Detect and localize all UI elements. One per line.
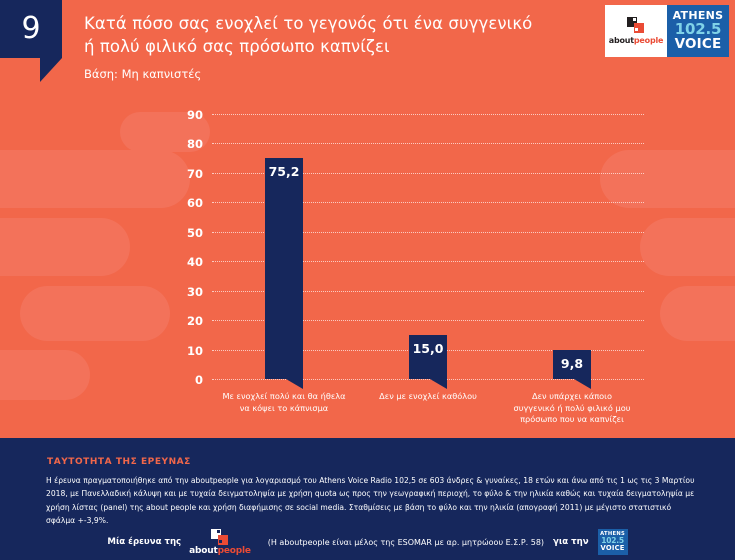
page-subtitle: Βάση: Μη καπνιστές xyxy=(84,66,584,82)
aboutpeople-word-about: about xyxy=(189,546,217,556)
aboutpeople-squares-icon xyxy=(627,17,645,33)
chart-bar[interactable]: 75,2 xyxy=(265,158,303,379)
athens-voice-line-voice: VOICE xyxy=(675,38,722,52)
x-axis-category-label: Δεν υπάρχει κάποιοσυγγενικό ή πολύ φιλικ… xyxy=(500,391,644,426)
slide-number-badge-tail xyxy=(40,58,62,82)
y-axis-tick-label: 70 xyxy=(187,167,203,181)
methodology-footer: ΤΑΥΤΟΤΗΤΑ ΤΗΣ ΕΡΕΥΝΑΣ Η έρευνα πραγματοπ… xyxy=(0,438,735,560)
slide-number-badge: 9 xyxy=(0,0,62,58)
chart-bar[interactable]: 15,0 xyxy=(409,335,447,379)
bar-group: 75,2Με ενοχλεί πολύ και θα ήθελανα κόψει… xyxy=(265,158,303,379)
athens-voice-logo: ATHENS 102.5 VOICE xyxy=(667,5,729,57)
credits-bar: Μία έρευνα της aboutpeople (Η aboutpeopl… xyxy=(0,524,735,560)
slide-header: 9 Κατά πόσο σας ενοχλεί το γεγονός ότι έ… xyxy=(0,0,735,100)
page-title-line-1: Κατά πόσο σας ενοχλεί το γεγονός ότι ένα… xyxy=(84,12,584,35)
aboutpeople-word-people: people xyxy=(634,36,663,45)
aboutpeople-word-about: about xyxy=(609,36,634,45)
x-axis-category-line: να κόψει το κάπνισμα xyxy=(212,403,356,415)
methodology-title: ΤΑΥΤΟΤΗΤΑ ΤΗΣ ΕΡΕΥΝΑΣ xyxy=(47,457,191,467)
aboutpeople-wordmark: aboutpeople xyxy=(609,36,664,45)
aboutpeople-logo: aboutpeople xyxy=(605,5,667,57)
aboutpeople-squares-icon xyxy=(211,529,229,545)
y-axis-tick-label: 40 xyxy=(187,255,203,269)
y-axis-tick-label: 10 xyxy=(187,344,203,358)
bar-chart-plot: 010203040506070809075,2Με ενοχλεί πολύ κ… xyxy=(212,114,644,379)
y-axis-tick-label: 0 xyxy=(195,373,203,387)
page-title-line-2: ή πολύ φιλικό σας πρόσωπο καπνίζει xyxy=(84,35,584,58)
y-axis-tick-label: 80 xyxy=(187,137,203,151)
athens-voice-line-frequency: 102.5 xyxy=(675,22,721,37)
x-axis-category-line: συγγενικό ή πολύ φιλικό μου xyxy=(500,403,644,415)
bar-value-label: 75,2 xyxy=(265,164,303,179)
methodology-body: Η έρευνα πραγματοποιήθηκε από την aboutp… xyxy=(46,474,696,527)
chart-bar[interactable]: 9,8 xyxy=(553,350,591,379)
x-axis-category-label: Δεν με ενοχλεί καθόλου xyxy=(356,391,500,403)
chart-bar-tail xyxy=(430,379,447,389)
bar-value-label: 9,8 xyxy=(553,356,591,371)
x-axis-category-line: Δεν υπάρχει κάποιο xyxy=(500,391,644,403)
chart-bar-tail xyxy=(574,379,591,389)
credits-aboutpeople-logo: aboutpeople xyxy=(189,529,251,556)
aboutpeople-wordmark: aboutpeople xyxy=(189,547,251,556)
bar-group: 9,8Δεν υπάρχει κάποιοσυγγενικό ή πολύ φι… xyxy=(553,350,591,379)
athens-voice-line-voice: VOICE xyxy=(601,545,625,552)
chart-bar-tail xyxy=(286,379,303,389)
y-axis-tick-label: 20 xyxy=(187,314,203,328)
y-axis-tick-label: 90 xyxy=(187,108,203,122)
aboutpeople-word-people: people xyxy=(218,546,251,556)
bar-value-label: 15,0 xyxy=(409,341,447,356)
credits-athens-voice-logo: ATHENS 102.5 VOICE xyxy=(598,529,628,555)
x-axis-category-line: Με ενοχλεί πολύ και θα ήθελα xyxy=(212,391,356,403)
bar-group: 15,0Δεν με ενοχλεί καθόλου xyxy=(409,335,447,379)
credits-note: (Η aboutpeople είναι μέλος της ESOMAR με… xyxy=(268,538,544,547)
chart-gridline: 80 xyxy=(212,143,644,144)
chart-gridline: 90 xyxy=(212,114,644,115)
credits-prefix: Μία έρευνα της xyxy=(107,537,181,547)
y-axis-tick-label: 60 xyxy=(187,196,203,210)
x-axis-category-line: Δεν με ενοχλεί καθόλου xyxy=(356,391,500,403)
y-axis-tick-label: 50 xyxy=(187,226,203,240)
x-axis-category-line: πρόσωπο που να καπνίζει xyxy=(500,414,644,426)
x-axis-category-label: Με ενοχλεί πολύ και θα ήθελανα κόψει το … xyxy=(212,391,356,414)
brand-logos: aboutpeople ATHENS 102.5 VOICE xyxy=(605,5,729,57)
page-title: Κατά πόσο σας ενοχλεί το γεγονός ότι ένα… xyxy=(84,12,584,82)
y-axis-tick-label: 30 xyxy=(187,285,203,299)
chart-region: 010203040506070809075,2Με ενοχλεί πολύ κ… xyxy=(0,100,735,430)
credits-suffix: για την xyxy=(553,537,589,547)
